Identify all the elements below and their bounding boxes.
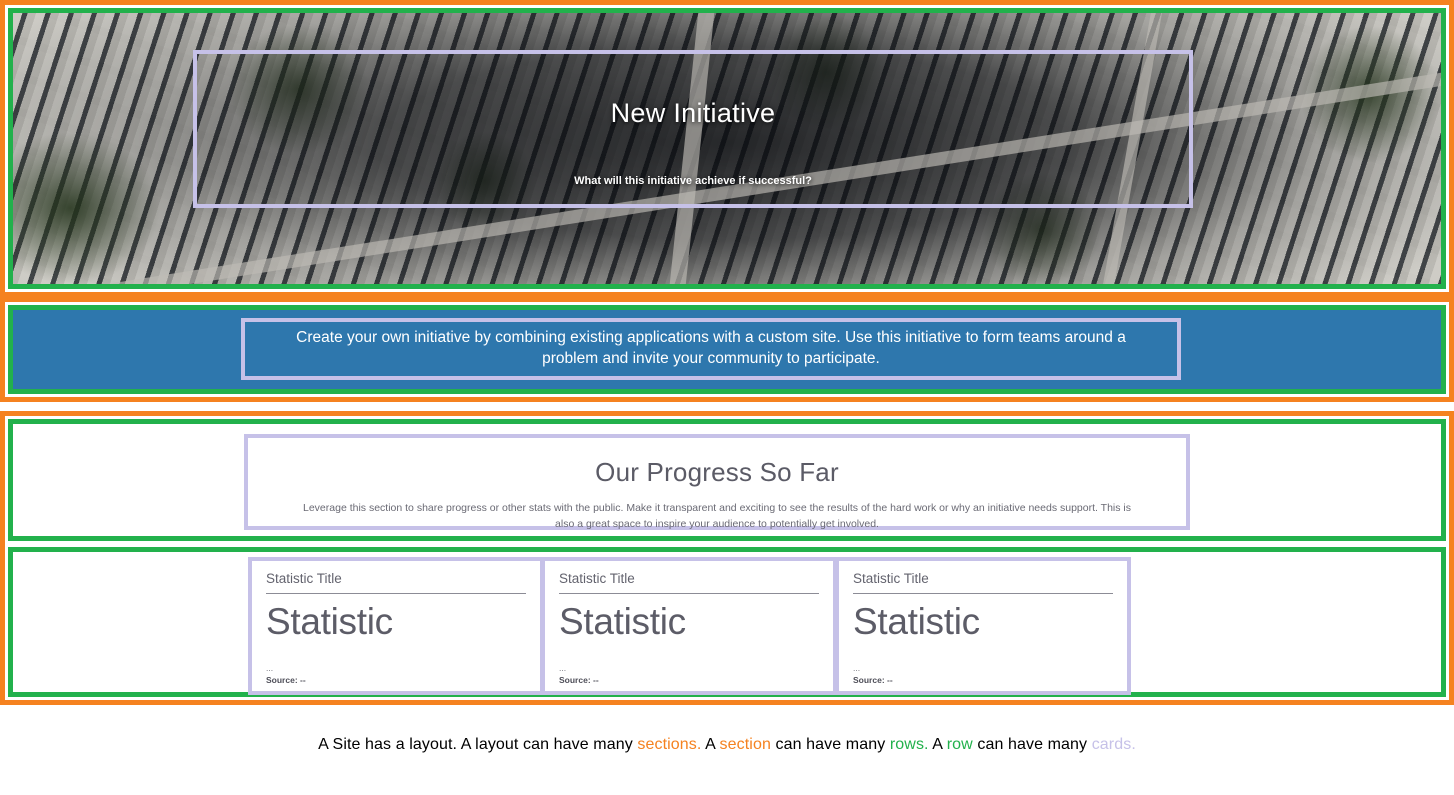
statistic-divider bbox=[559, 593, 819, 594]
statistic-source: Source: -- bbox=[853, 675, 1113, 685]
caption-word-sections: sections. bbox=[637, 736, 701, 753]
statistic-content: Statistic Title Statistic ... Source: -- bbox=[545, 561, 833, 691]
hero-title: New Initiative bbox=[611, 98, 776, 129]
caption-part-1: A Site has a layout. A layout can have m… bbox=[318, 736, 637, 753]
statistic-dots: ... bbox=[853, 664, 1113, 673]
progress-content: Our Progress So Far Leverage this sectio… bbox=[248, 438, 1186, 526]
statistic-content: Statistic Title Statistic ... Source: -- bbox=[839, 561, 1127, 691]
statistic-divider bbox=[853, 593, 1113, 594]
page-root: New Initiative What will this initiative… bbox=[0, 0, 1454, 795]
statistic-value: Statistic bbox=[266, 603, 526, 642]
statistic-title: Statistic Title bbox=[853, 571, 1113, 593]
statistic-value: Statistic bbox=[853, 603, 1113, 642]
statistic-title: Statistic Title bbox=[266, 571, 526, 593]
card-statistic[interactable]: Statistic Title Statistic ... Source: -- bbox=[541, 557, 837, 695]
progress-description: Leverage this section to share progress … bbox=[302, 500, 1132, 533]
caption-word-cards: cards. bbox=[1092, 736, 1136, 753]
card-statistic[interactable]: Statistic Title Statistic ... Source: -- bbox=[248, 557, 544, 695]
caption-part-4: A bbox=[929, 736, 947, 753]
caption-word-rows: rows. bbox=[890, 736, 929, 753]
statistic-dots: ... bbox=[266, 664, 526, 673]
statistic-content: Statistic Title Statistic ... Source: -- bbox=[252, 561, 540, 691]
caption-word-row: row bbox=[947, 736, 973, 753]
caption-part-5: can have many bbox=[973, 736, 1092, 753]
statistic-footer: ... Source: -- bbox=[266, 664, 526, 685]
card-banner[interactable]: Create your own initiative by combining … bbox=[241, 318, 1181, 380]
statistic-source: Source: -- bbox=[266, 675, 526, 685]
caption-part-2: A bbox=[701, 736, 719, 753]
statistic-divider bbox=[266, 593, 526, 594]
statistic-dots: ... bbox=[559, 664, 819, 673]
statistic-footer: ... Source: -- bbox=[853, 664, 1113, 685]
progress-title: Our Progress So Far bbox=[595, 457, 839, 488]
card-hero[interactable]: New Initiative What will this initiative… bbox=[193, 50, 1193, 208]
caption-part-3: can have many bbox=[771, 736, 890, 753]
legend-caption: A Site has a layout. A layout can have m… bbox=[0, 736, 1454, 754]
hero-content: New Initiative What will this initiative… bbox=[197, 54, 1189, 204]
caption-word-section: section bbox=[720, 736, 771, 753]
card-statistic[interactable]: Statistic Title Statistic ... Source: -- bbox=[835, 557, 1131, 695]
hero-subtitle: What will this initiative achieve if suc… bbox=[574, 175, 812, 187]
statistic-footer: ... Source: -- bbox=[559, 664, 819, 685]
card-progress-heading[interactable]: Our Progress So Far Leverage this sectio… bbox=[244, 434, 1190, 530]
statistic-source: Source: -- bbox=[559, 675, 819, 685]
statistic-value: Statistic bbox=[559, 603, 819, 642]
statistic-title: Statistic Title bbox=[559, 571, 819, 593]
banner-text: Create your own initiative by combining … bbox=[245, 322, 1177, 376]
